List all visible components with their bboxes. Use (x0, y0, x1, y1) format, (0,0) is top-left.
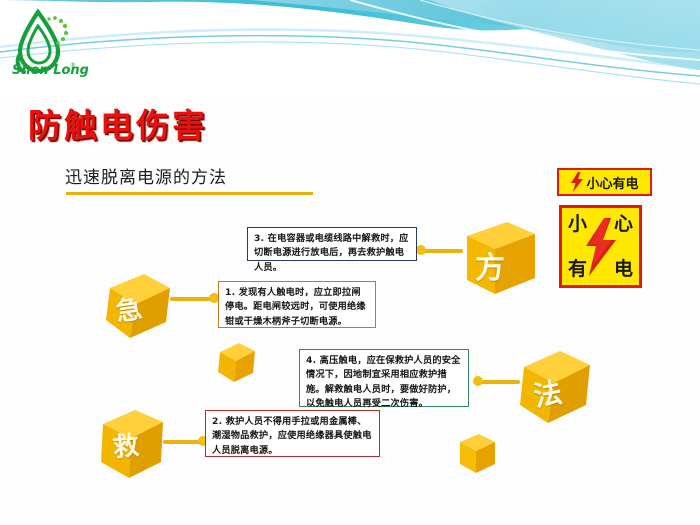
note-box-3: 3. 在电容器或电缆线路中解救时，应切断电源进行放电后，再去救护触电人员。 (247, 227, 417, 261)
lightning-bolt-icon (570, 172, 584, 192)
connector-line-3 (421, 249, 463, 253)
connector-dot-3 (416, 245, 426, 255)
logo-brand-text: Shen Long (12, 63, 88, 78)
cube-fang: 方 (455, 218, 541, 302)
cube-plain-lower (455, 432, 499, 478)
cube-plain-middle (215, 340, 259, 386)
connector-line-4 (478, 380, 520, 384)
note-box-4: 4. 高压触电，应在保救护人员的安全情况下，因地制宜采用相应救护措施。解救触电人… (299, 349, 469, 407)
cube-ji: 急 (100, 268, 178, 346)
caution-electricity-sign-wide: 小心有电 (557, 168, 652, 196)
slide-canvas: Shen Long ® 防触电伤害 迅速脱离电源的方法 方 急 (0, 0, 700, 525)
decorative-wave-banner (0, 0, 700, 95)
cube-jiu: 救 (95, 406, 175, 484)
connector-line-2 (163, 440, 203, 444)
caution-electricity-sign-square: 小 心 有 电 (559, 205, 642, 288)
caution-electricity-sign-wide-text: 小心有电 (586, 173, 638, 192)
note-box-2: 2. 救护人员不得用手拉或用金属棒、潮湿物品救护，应使用绝缘器具使触电人员脱离电… (205, 410, 380, 457)
page-title: 防触电伤害 (28, 99, 208, 147)
cube-fa: 法 (510, 345, 598, 431)
connector-dot-4 (473, 376, 483, 386)
shen-long-logo: Shen Long ® (8, 6, 88, 82)
connector-line-1 (170, 297, 212, 301)
note-box-1: 1. 发现有人触电时，应立即拉闸停电。距电闸较远时，可使用绝缘钳或干燥木柄斧子切… (218, 281, 376, 328)
section-heading: 迅速脱离电源的方法 (65, 163, 227, 188)
svg-text:®: ® (70, 62, 76, 69)
lightning-bolt-icon (584, 218, 618, 276)
section-heading-underline (66, 192, 313, 195)
